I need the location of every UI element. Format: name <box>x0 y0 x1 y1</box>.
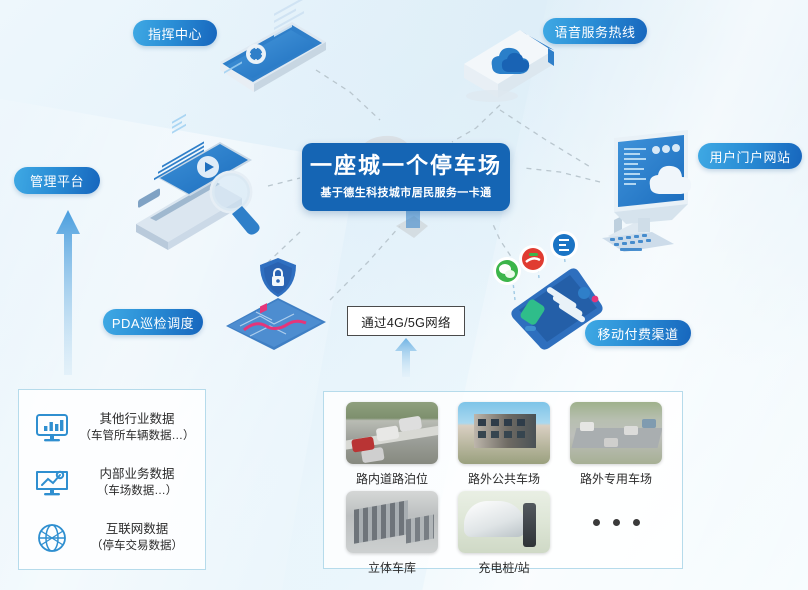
center-title-card: 一座城一个停车场 基于德生科技城市居民服务一卡通 <box>302 143 510 211</box>
bar-chart-monitor-icon <box>27 413 77 443</box>
data-flow-arrow-up-small <box>393 337 419 377</box>
mechanical-garage-photo <box>346 491 438 553</box>
data-source-row[interactable]: 内部业务数据 （车场数据…） <box>27 455 197 510</box>
label-mobile-payment[interactable]: 移动付费渠道 <box>585 320 691 346</box>
scene-item[interactable]: 路外公共车场 <box>448 402 560 491</box>
data-source-subtitle: （车场数据…） <box>77 483 197 500</box>
network-label-box: 通过4G/5G网络 <box>347 306 465 336</box>
parking-scenes-panel: 路内道路泊位 路外公共车场 路外专用车场 立体车库 充电桩/站 <box>323 391 683 569</box>
data-source-row[interactable]: 互联网数据 （停车交易数据） <box>27 510 197 565</box>
globe-icon <box>27 522 77 554</box>
data-source-subtitle: （停车交易数据） <box>77 538 197 555</box>
scene-row-2: 立体车库 充电桩/站 <box>324 491 682 580</box>
data-source-title: 互联网数据 <box>77 520 197 538</box>
charging-pile-photo <box>458 491 550 553</box>
pda-map-tablet <box>216 256 336 352</box>
off-street-private-lot-photo <box>570 402 662 464</box>
label-pda-patrol[interactable]: PDA巡检调度 <box>103 309 203 335</box>
on-street-parking-photo <box>346 402 438 464</box>
scene-caption: 立体车库 <box>368 559 416 576</box>
line-chart-monitor-icon <box>27 468 77 498</box>
more-scenes-indicator <box>560 491 672 553</box>
unionpay-icon <box>549 230 579 260</box>
command-center-monitor <box>212 18 332 136</box>
scene-caption: 路内道路泊位 <box>356 470 428 487</box>
label-user-portal[interactable]: 用户门户网站 <box>698 143 802 169</box>
alipay-icon <box>518 244 548 274</box>
management-laptop <box>92 132 282 260</box>
scene-caption: 路外专用车场 <box>580 470 652 487</box>
scene-row-1: 路内道路泊位 路外公共车场 路外专用车场 <box>324 402 682 491</box>
scene-item[interactable]: 路外专用车场 <box>560 402 672 491</box>
scene-caption: 路外公共车场 <box>468 470 540 487</box>
scene-item[interactable]: 路内道路泊位 <box>336 402 448 491</box>
scene-item[interactable]: 立体车库 <box>336 491 448 580</box>
scene-item[interactable]: 充电桩/站 <box>448 491 560 580</box>
data-source-title: 其他行业数据 <box>77 410 197 428</box>
data-sources-panel: 其他行业数据 （车管所车辆数据…） 内部业务数据 （车场数据…） <box>18 389 206 570</box>
data-source-row[interactable]: 其他行业数据 （车管所车辆数据…） <box>27 400 197 455</box>
data-source-title: 内部业务数据 <box>77 465 197 483</box>
scene-item-more <box>560 491 672 580</box>
label-voice-hotline[interactable]: 语音服务热线 <box>543 18 647 44</box>
data-flow-arrow-up-large <box>55 200 81 375</box>
label-management-platform[interactable]: 管理平台 <box>14 167 100 194</box>
scene-caption: 充电桩/站 <box>478 559 529 576</box>
diagram-canvas: 一座城一个停车场 基于德生科技城市居民服务一卡通 指挥中心 语音服务热线 管理平… <box>0 0 808 590</box>
page-title: 一座城一个停车场 <box>310 154 502 178</box>
page-subtitle: 基于德生科技城市居民服务一卡通 <box>321 184 492 200</box>
data-source-subtitle: （车管所车辆数据…） <box>77 428 197 445</box>
off-street-public-lot-photo <box>458 402 550 464</box>
label-command-center[interactable]: 指挥中心 <box>133 20 217 46</box>
